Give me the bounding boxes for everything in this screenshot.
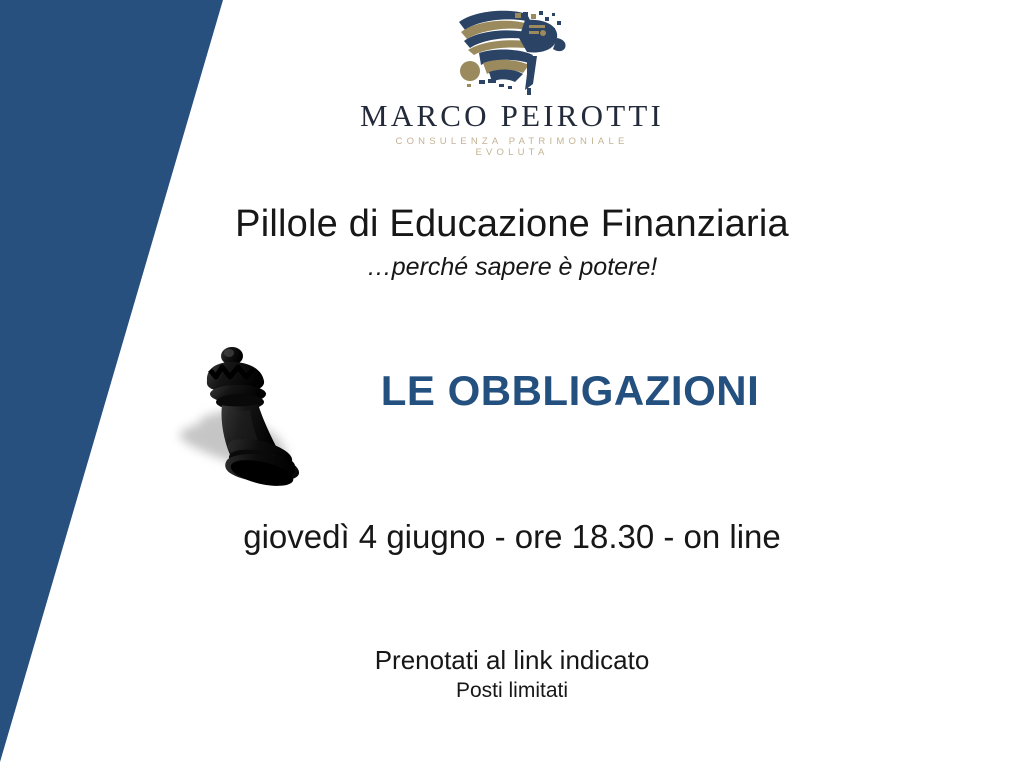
topic-title: LE OBBLIGAZIONI (290, 367, 850, 415)
booking-instruction: Prenotati al link indicato (0, 645, 1024, 676)
presentation-slide: MARCO PEIROTTI CONSULENZA PATRIMONIALE E… (0, 0, 1024, 762)
brand-logo: MARCO PEIROTTI CONSULENZA PATRIMONIALE E… (0, 8, 1024, 159)
eagle-logo-icon (453, 8, 571, 96)
brand-name: MARCO PEIROTTI (360, 100, 664, 133)
series-subtitle: …perché sapere è potere! (0, 253, 1024, 282)
brand-tagline-line2: EVOLUTA (396, 147, 629, 159)
brand-tagline-line1: CONSULENZA PATRIMONIALE (396, 136, 629, 147)
seats-notice: Posti limitati (0, 679, 1024, 703)
series-title: Pillole di Educazione Finanziaria (0, 203, 1024, 246)
event-datetime: giovedì 4 giugno - ore 18.30 - on line (0, 518, 1024, 556)
brand-tagline: CONSULENZA PATRIMONIALE EVOLUTA (396, 136, 629, 160)
